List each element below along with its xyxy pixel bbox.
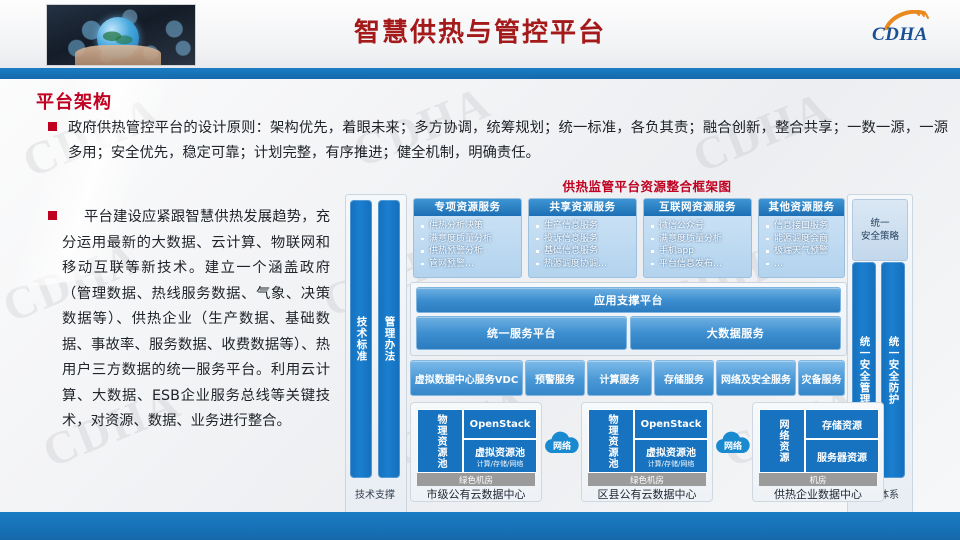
service-group-1[interactable]: 共享资源服务 生产信息服务 投诉信息服务 基础信息服务 热源调度协调… xyxy=(528,198,637,278)
network-cloud-1: 网络 xyxy=(712,430,754,458)
slide-header: 智慧供热与管控平台 CDHA xyxy=(0,0,960,68)
dc2-storage-resource: 存储资源 xyxy=(805,409,879,439)
bullet-marker xyxy=(48,122,57,131)
vbar-management-method[interactable]: 管理办法 xyxy=(378,200,400,478)
service-group-1-list: 生产信息服务 投诉信息服务 基础信息服务 热源调度协调… xyxy=(529,216,636,272)
data-center-0[interactable]: 物理资源池 OpenStack 虚拟资源池 计算/存储/网络 绿色机房 市级公有… xyxy=(410,402,542,502)
dc0-physical-resource-pool: 物理资源池 xyxy=(417,409,463,473)
dc2-network-resource: 网络资源 xyxy=(759,409,805,473)
data-center-2[interactable]: 网络资源 存储资源 服务器资源 机房 供热企业数据中心 xyxy=(752,402,884,502)
unified-security-strategy-box[interactable]: 统一 安全策略 xyxy=(852,199,908,261)
dc2-caption: 供热企业数据中心 xyxy=(753,486,883,502)
service-button-disaster-recovery[interactable]: 灾备服务 xyxy=(798,360,845,396)
dc1-virtual-pool-sub: 计算/存储/网络 xyxy=(648,459,695,469)
dc0-openstack: OpenStack xyxy=(463,409,537,439)
architecture-diagram: 技术标准 管理办法 技术支撑 统一 安全策略 统一安全管理 统一安全防护 安全体… xyxy=(345,192,949,514)
dc1-room: 绿色机房 xyxy=(588,473,706,486)
paragraph-platform-construction: 平台建设应紧跟智慧供热发展趋势，充分运用最新的大数据、云计算、物联网和移动互联等… xyxy=(62,205,330,435)
service-group-3-list: 信息接口服务 能源调度会商 极端天气预警 … xyxy=(759,216,844,272)
service-group-1-title: 共享资源服务 xyxy=(529,199,636,216)
list-item: 满意度质量分析 xyxy=(420,233,517,246)
list-item: 热源调度协调… xyxy=(535,258,632,271)
cdha-logo: CDHA xyxy=(872,10,946,50)
list-item: 管网预警… xyxy=(420,258,517,271)
dc1-virtual-pool-label: 虚拟资源池 xyxy=(646,444,696,459)
service-button-early-warning[interactable]: 预警服务 xyxy=(525,360,585,396)
service-group-2-title: 互联网资源服务 xyxy=(644,199,751,216)
dc1-physical-resource-pool: 物理资源池 xyxy=(588,409,634,473)
dc1-virtual-resource-pool: 虚拟资源池 计算/存储/网络 xyxy=(634,439,708,473)
service-button-vdc[interactable]: 虚拟数据中心服务VDC xyxy=(410,360,523,396)
dc0-virtual-resource-pool: 虚拟资源池 计算/存储/网络 xyxy=(463,439,537,473)
unified-service-platform-bar[interactable]: 统一服务平台 xyxy=(416,316,627,350)
technical-support-caption: 技术支撑 xyxy=(345,486,405,501)
dc1-caption: 区县公有云数据中心 xyxy=(582,486,712,502)
service-group-0[interactable]: 专项资源服务 供热分析决策 满意度质量分析 供热预警分析 管网预警… xyxy=(413,198,522,278)
service-group-3[interactable]: 其他资源服务 信息接口服务 能源调度会商 极端天气预警 … xyxy=(758,198,845,278)
paragraph-design-principles: 政府供热管控平台的设计原则：架构优先，着眼未来；多方协调，统筹规划；统一标准，各… xyxy=(68,116,948,166)
vbar-unified-security-protection[interactable]: 统一安全防护 xyxy=(881,262,905,478)
service-group-0-title: 专项资源服务 xyxy=(414,199,521,216)
slide: CDHA CDHA CDHA CDHA CDHA CDHA CDHA CDHA … xyxy=(0,0,960,540)
list-item: 能源调度会商 xyxy=(765,233,840,246)
network-cloud-1-label: 网络 xyxy=(712,439,754,452)
bullet-marker xyxy=(48,211,57,220)
list-item: 手机app xyxy=(650,245,747,258)
list-item: 满意度质量分析 xyxy=(650,233,747,246)
slide-footer-bar xyxy=(0,512,960,540)
unified-security-strategy-line1: 统一 xyxy=(870,217,889,230)
list-item: 供热分析决策 xyxy=(420,220,517,233)
list-item: … xyxy=(765,258,840,271)
list-item: 供热预警分析 xyxy=(420,245,517,258)
list-item: 基础信息服务 xyxy=(535,245,632,258)
section-title: 平台架构 xyxy=(36,88,112,114)
network-cloud-0-label: 网络 xyxy=(541,439,583,452)
dc2-room: 机房 xyxy=(759,473,877,486)
dc0-virtual-pool-label: 虚拟资源池 xyxy=(475,444,525,459)
dc2-server-resource: 服务器资源 xyxy=(805,439,879,473)
application-support-platform-bar[interactable]: 应用支撑平台 xyxy=(416,287,841,313)
logo-text: CDHA xyxy=(872,24,946,46)
list-item: 生产信息服务 xyxy=(535,220,632,233)
vbar-technical-standard[interactable]: 技术标准 xyxy=(350,200,372,478)
service-group-2-list: 微信公众号 满意度质量分析 手机app 平台信息发布… xyxy=(644,216,751,272)
network-cloud-0: 网络 xyxy=(541,430,583,458)
dc0-caption: 市级公有云数据中心 xyxy=(411,486,541,502)
list-item: 微信公众号 xyxy=(650,220,747,233)
list-item: 极端天气预警 xyxy=(765,245,840,258)
data-center-1[interactable]: 物理资源池 OpenStack 虚拟资源池 计算/存储/网络 绿色机房 区县公有… xyxy=(581,402,713,502)
page-title: 智慧供热与管控平台 xyxy=(0,12,960,49)
list-item: 投诉信息服务 xyxy=(535,233,632,246)
service-button-computing[interactable]: 计算服务 xyxy=(587,360,652,396)
service-button-network-security[interactable]: 网络及安全服务 xyxy=(716,360,796,396)
big-data-service-bar[interactable]: 大数据服务 xyxy=(630,316,841,350)
dc0-virtual-pool-sub: 计算/存储/网络 xyxy=(477,459,524,469)
dc1-openstack: OpenStack xyxy=(634,409,708,439)
service-group-2[interactable]: 互联网资源服务 微信公众号 满意度质量分析 手机app 平台信息发布… xyxy=(643,198,752,278)
list-item: 平台信息发布… xyxy=(650,258,747,271)
list-item: 信息接口服务 xyxy=(765,220,840,233)
unified-security-strategy-line2: 安全策略 xyxy=(861,230,899,243)
service-group-0-list: 供热分析决策 满意度质量分析 供热预警分析 管网预警… xyxy=(414,216,521,272)
service-button-storage[interactable]: 存储服务 xyxy=(654,360,714,396)
dc0-room: 绿色机房 xyxy=(417,473,535,486)
service-group-3-title: 其他资源服务 xyxy=(759,199,844,216)
header-accent-bar xyxy=(0,68,960,79)
